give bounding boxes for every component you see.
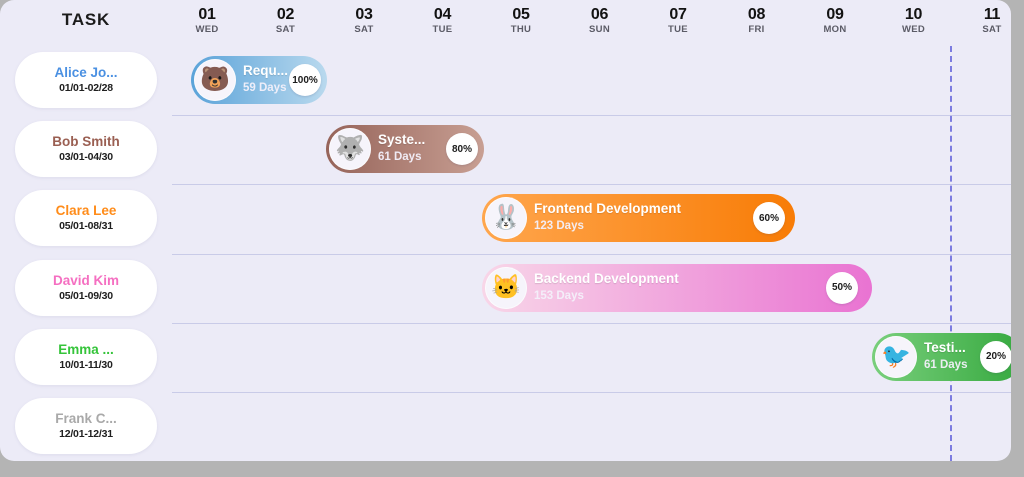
day-column-07[interactable]: 07TUE (648, 6, 708, 36)
bar-task-title: Backend Development (534, 270, 868, 288)
progress-badge: 20% (980, 341, 1011, 373)
day-column-11[interactable]: 11SAT (962, 6, 1011, 36)
day-weekday: WED (177, 24, 237, 36)
row-separator (172, 115, 1011, 116)
day-weekday: SUN (570, 24, 630, 36)
cat-avatar-icon: 🐱 (485, 267, 527, 309)
day-weekday: MON (805, 24, 865, 36)
day-number: 01 (177, 6, 237, 24)
progress-badge: 80% (446, 133, 478, 165)
task-card[interactable]: Alice Jo...01/01-02/28 (15, 52, 157, 108)
day-number: 05 (491, 6, 551, 24)
bird-avatar-icon: 🐦 (875, 336, 917, 378)
today-marker-line (950, 46, 952, 461)
gantt-panel: TASK 01WED02SAT03SAT04TUE05THU06SUN07TUE… (0, 0, 1011, 461)
gantt-chart-screen: TASK 01WED02SAT03SAT04TUE05THU06SUN07TUE… (0, 0, 1024, 477)
assignee-name: Emma ... (58, 341, 114, 358)
task-card[interactable]: Emma ...10/01-11/30 (15, 329, 157, 385)
day-number: 04 (413, 6, 473, 24)
day-number: 10 (884, 6, 944, 24)
assignee-name: Alice Jo... (54, 64, 117, 81)
day-column-03[interactable]: 03SAT (334, 6, 394, 36)
task-date-range: 03/01-04/30 (59, 150, 113, 165)
day-number: 11 (962, 6, 1011, 24)
task-date-range: 05/01-09/30 (59, 289, 113, 304)
day-weekday: SAT (334, 24, 394, 36)
assignee-name: Clara Lee (56, 202, 117, 219)
day-weekday: SAT (256, 24, 316, 36)
task-date-range: 10/01-11/30 (59, 358, 112, 373)
day-weekday: TUE (413, 24, 473, 36)
panel-drop-shadow (8, 461, 1024, 477)
task-date-range: 05/01-08/31 (59, 219, 113, 234)
task-date-range: 01/01-02/28 (59, 81, 113, 96)
timeline-grid (172, 46, 1011, 461)
day-weekday: TUE (648, 24, 708, 36)
assignee-name: Frank C... (55, 410, 117, 427)
day-column-08[interactable]: 08FRI (727, 6, 787, 36)
day-number: 03 (334, 6, 394, 24)
gantt-bar[interactable]: 🐦Testi...61 Days20% (872, 333, 1011, 381)
row-separator (172, 184, 1011, 185)
gantt-bar[interactable]: 🐰Frontend Development123 Days60% (482, 194, 795, 242)
bear-avatar-icon: 🐻 (194, 59, 236, 101)
progress-badge: 100% (289, 64, 321, 96)
bar-text-block: Backend Development153 Days (534, 270, 868, 305)
progress-badge: 50% (826, 272, 858, 304)
task-card[interactable]: Frank C...12/01-12/31 (15, 398, 157, 454)
gantt-bar[interactable]: 🐺Syste...61 Days80% (326, 125, 484, 173)
task-card[interactable]: Clara Lee05/01-08/31 (15, 190, 157, 246)
day-number: 06 (570, 6, 630, 24)
row-separator (172, 323, 1011, 324)
day-number: 07 (648, 6, 708, 24)
day-weekday: THU (491, 24, 551, 36)
day-weekday: SAT (962, 24, 1011, 36)
day-column-10[interactable]: 10WED (884, 6, 944, 36)
gantt-bar[interactable]: 🐻Requ...59 Days100% (191, 56, 327, 104)
task-card[interactable]: David Kim05/01-09/30 (15, 260, 157, 316)
bar-duration: 153 Days (534, 288, 868, 305)
day-column-05[interactable]: 05THU (491, 6, 551, 36)
wolf-avatar-icon: 🐺 (329, 128, 371, 170)
day-number: 08 (727, 6, 787, 24)
task-date-range: 12/01-12/31 (59, 427, 113, 442)
gantt-bar[interactable]: 🐱Backend Development153 Days50% (482, 264, 872, 312)
task-column-header: TASK (0, 10, 172, 30)
day-column-06[interactable]: 06SUN (570, 6, 630, 36)
day-number: 02 (256, 6, 316, 24)
day-weekday: WED (884, 24, 944, 36)
day-number: 09 (805, 6, 865, 24)
timeline-header: TASK 01WED02SAT03SAT04TUE05THU06SUN07TUE… (0, 0, 1011, 46)
day-column-01[interactable]: 01WED (177, 6, 237, 36)
day-column-02[interactable]: 02SAT (256, 6, 316, 36)
day-weekday: FRI (727, 24, 787, 36)
assignee-name: Bob Smith (52, 133, 120, 150)
assignee-name: David Kim (53, 272, 119, 289)
day-column-09[interactable]: 09MON (805, 6, 865, 36)
row-separator (172, 392, 1011, 393)
day-column-04[interactable]: 04TUE (413, 6, 473, 36)
row-separator (172, 254, 1011, 255)
task-card[interactable]: Bob Smith03/01-04/30 (15, 121, 157, 177)
rabbit-avatar-icon: 🐰 (485, 197, 527, 239)
